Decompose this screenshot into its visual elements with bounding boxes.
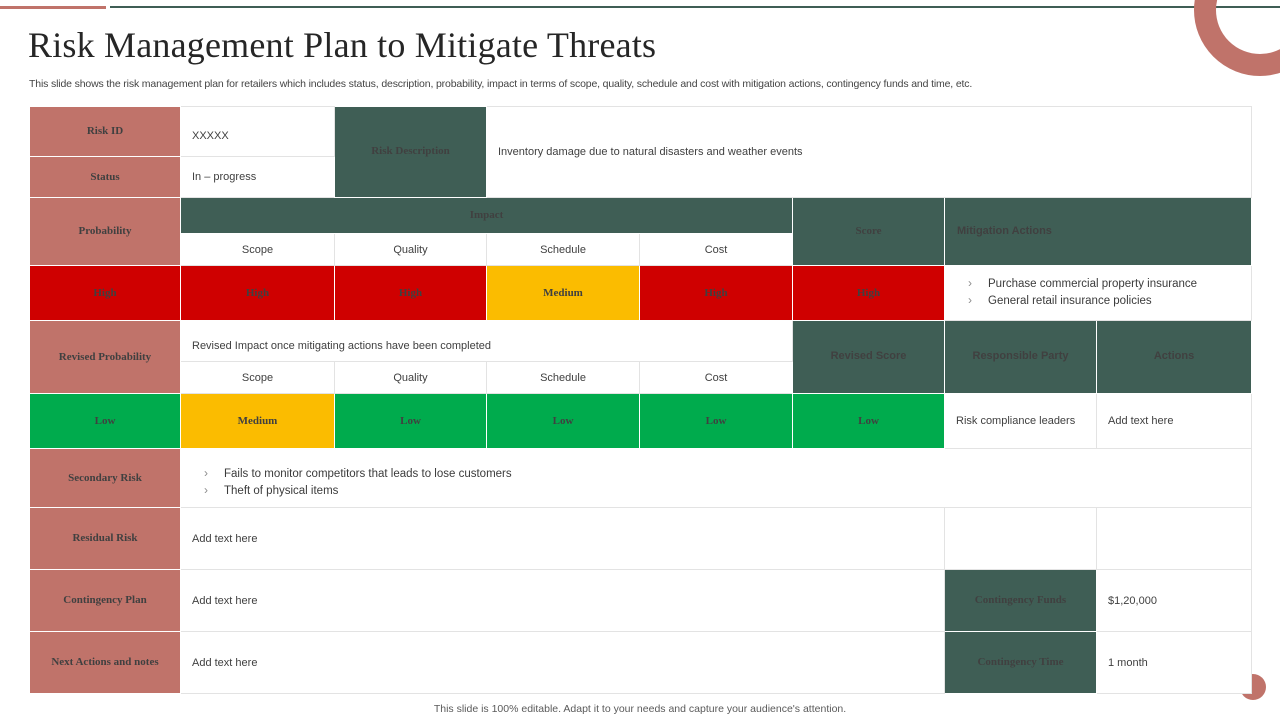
cell-risk-id-value[interactable]: XXXXX [181, 107, 335, 157]
cell-impact-col-scope: Scope [181, 234, 335, 266]
table-row-impact-header: Probability Impact Score Mitigation Acti… [30, 198, 1252, 234]
table-row-residual-risk: Residual Risk Add text here [30, 508, 1252, 570]
cell-impact-col-schedule: Schedule [487, 234, 640, 266]
cell-revised-rating-quality[interactable]: Low [335, 394, 487, 449]
cell-revised-rating-scope[interactable]: Medium [181, 394, 335, 449]
page-subtitle: This slide shows the risk management pla… [29, 78, 1209, 90]
secondary-risk-list: Fails to monitor competitors that leads … [192, 466, 1251, 499]
top-rule-salmon [0, 6, 106, 9]
table-row-contingency-plan: Contingency Plan Add text here Contingen… [30, 570, 1252, 632]
cell-revised-impact-note: Revised Impact once mitigating actions h… [181, 321, 793, 362]
list-item: Purchase commercial property insurance [966, 276, 1251, 293]
cell-residual-blank-1 [945, 508, 1097, 570]
cell-contingency-time-label: Contingency Time [945, 632, 1097, 694]
decorative-ring-shape [1194, 0, 1280, 76]
cell-secondary-risk-label: Secondary Risk [30, 449, 181, 508]
cell-revised-probability-label: Revised Probability [30, 321, 181, 394]
cell-revised-rating-cost[interactable]: Low [640, 394, 793, 449]
mitigation-actions-list: Purchase commercial property insurance G… [956, 276, 1251, 309]
cell-impact-rating-cost[interactable]: High [640, 266, 793, 321]
cell-residual-blank-2 [1097, 508, 1252, 570]
cell-next-actions-value[interactable]: Add text here [181, 632, 945, 694]
cell-score-label: Score [793, 198, 945, 266]
cell-revised-probability-rating[interactable]: Low [30, 394, 181, 449]
cell-revised-col-schedule: Schedule [487, 362, 640, 394]
table-row-revised-header: Revised Probability Revised Impact once … [30, 321, 1252, 362]
footer-note: This slide is 100% editable. Adapt it to… [0, 703, 1280, 715]
cell-actions-label: Actions [1097, 321, 1252, 394]
cell-contingency-time-value[interactable]: 1 month [1097, 632, 1252, 694]
cell-status-label: Status [30, 157, 181, 198]
table-row-next-actions: Next Actions and notes Add text here Con… [30, 632, 1252, 694]
list-item: Fails to monitor competitors that leads … [202, 466, 1251, 483]
list-item: Theft of physical items [202, 483, 1251, 500]
cell-impact-col-cost: Cost [640, 234, 793, 266]
cell-residual-risk-value[interactable]: Add text here [181, 508, 945, 570]
page-title: Risk Management Plan to Mitigate Threats [28, 24, 1128, 66]
cell-responsible-party-label: Responsible Party [945, 321, 1097, 394]
cell-impact-rating-quality[interactable]: High [335, 266, 487, 321]
cell-mitigation-actions-value[interactable]: Purchase commercial property insurance G… [945, 266, 1252, 321]
table-row-revised-ratings: Low Medium Low Low Low Low Risk complian… [30, 394, 1252, 449]
top-rule [0, 6, 1280, 9]
cell-probability-label: Probability [30, 198, 181, 266]
cell-risk-id-label: Risk ID [30, 107, 181, 157]
cell-mitigation-actions-label: Mitigation Actions [945, 198, 1252, 266]
cell-revised-col-scope: Scope [181, 362, 335, 394]
cell-contingency-plan-value[interactable]: Add text here [181, 570, 945, 632]
cell-contingency-funds-value[interactable]: $1,20,000 [1097, 570, 1252, 632]
table-row-impact-ratings: High High High Medium High High Purchase… [30, 266, 1252, 321]
cell-revised-score-label: Revised Score [793, 321, 945, 394]
list-item: General retail insurance policies [966, 293, 1251, 310]
cell-revised-score-rating[interactable]: Low [793, 394, 945, 449]
cell-impact-label: Impact [181, 198, 793, 234]
cell-status-value[interactable]: In – progress [181, 157, 335, 198]
cell-revised-col-cost: Cost [640, 362, 793, 394]
cell-impact-rating-schedule[interactable]: Medium [487, 266, 640, 321]
cell-next-actions-label: Next Actions and notes [30, 632, 181, 694]
cell-residual-risk-label: Residual Risk [30, 508, 181, 570]
cell-contingency-funds-label: Contingency Funds [945, 570, 1097, 632]
cell-impact-col-quality: Quality [335, 234, 487, 266]
cell-revised-col-quality: Quality [335, 362, 487, 394]
cell-actions-value[interactable]: Add text here [1097, 394, 1252, 449]
cell-secondary-risk-value[interactable]: Fails to monitor competitors that leads … [181, 449, 1252, 508]
cell-revised-rating-schedule[interactable]: Low [487, 394, 640, 449]
table-row-risk-id: Risk ID XXXXX Risk Description Inventory… [30, 107, 1252, 157]
cell-risk-description-value[interactable]: Inventory damage due to natural disaster… [487, 107, 1252, 198]
cell-responsible-party-value[interactable]: Risk compliance leaders [945, 394, 1097, 449]
cell-probability-rating[interactable]: High [30, 266, 181, 321]
risk-management-table: Risk ID XXXXX Risk Description Inventory… [29, 106, 1252, 694]
cell-risk-description-label: Risk Description [335, 107, 487, 198]
table-row-secondary-risk: Secondary Risk Fails to monitor competit… [30, 449, 1252, 508]
cell-score-rating[interactable]: High [793, 266, 945, 321]
cell-contingency-plan-label: Contingency Plan [30, 570, 181, 632]
cell-impact-rating-scope[interactable]: High [181, 266, 335, 321]
top-rule-green [110, 6, 1280, 8]
